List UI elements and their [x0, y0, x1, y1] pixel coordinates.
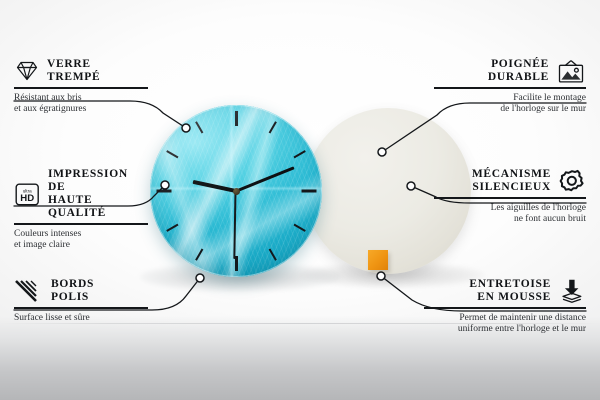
feature-title: MÉCANISME SILENCIEUX [472, 168, 551, 194]
feature-divider [434, 87, 586, 89]
feature-subtitle-line2: de l'horloge sur le mur [434, 104, 586, 116]
feature-mecanisme-silencieux[interactable]: MÉCANISME SILENCIEUX Les aiguilles de l'… [434, 168, 586, 226]
diamond-icon [14, 59, 40, 83]
feature-title: POIGNÉE DURABLE [488, 58, 549, 84]
diagonal-stripes-icon [14, 279, 44, 303]
feature-entretoise-en-mousse[interactable]: ENTRETOISE EN MOUSSE Permet de maintenir… [424, 278, 586, 336]
feature-subtitle-line1: Surface lisse et sûre [14, 313, 148, 325]
infographic-canvas: VERRE TREMPÉ Résistant aux bris et aux é… [0, 0, 600, 400]
feature-verre-trempe[interactable]: VERRE TREMPÉ Résistant aux bris et aux é… [14, 58, 148, 116]
clock-front-face [150, 105, 322, 277]
feature-impression-haute-qualite[interactable]: ultra HD IMPRESSION DE HAUTE QUALITÉ Cou… [14, 168, 148, 252]
feature-subtitle-line2: ne font aucun bruit [434, 214, 586, 226]
feature-subtitle-line1: Résistant aux bris [14, 93, 148, 105]
ultra-hd-icon: ultra HD [14, 182, 41, 207]
feature-title: BORDS POLIS [51, 278, 94, 304]
feature-header: MÉCANISME SILENCIEUX [434, 168, 586, 194]
feature-header: VERRE TREMPÉ [14, 58, 148, 84]
feature-subtitle-line1: Permet de maintenir une distance [424, 313, 586, 325]
feature-subtitle-line2: et image claire [14, 240, 148, 252]
feature-title: ENTRETOISE EN MOUSSE [469, 278, 551, 304]
feature-title: VERRE TREMPÉ [47, 58, 100, 84]
feature-poignee-durable[interactable]: POIGNÉE DURABLE Facilite le montage de l… [434, 58, 586, 116]
feature-subtitle-line2: et aux égratignures [14, 104, 148, 116]
feature-subtitle-line1: Les aiguilles de l'horloge [434, 203, 586, 215]
feature-title: IMPRESSION DE HAUTE QUALITÉ [48, 168, 148, 220]
clock-face-rim [150, 105, 322, 277]
foam-spacer-pad [368, 250, 388, 270]
feature-header: ultra HD IMPRESSION DE HAUTE QUALITÉ [14, 168, 148, 220]
feature-subtitle-line1: Facilite le montage [434, 93, 586, 105]
feature-divider [14, 307, 148, 309]
feature-divider [434, 197, 586, 199]
feature-divider [14, 87, 148, 89]
feature-subtitle-line1: Couleurs intenses [14, 229, 148, 241]
feature-bords-polis[interactable]: BORDS POLIS Surface lisse et sûre [14, 278, 148, 324]
gear-icon [558, 168, 586, 194]
feature-divider [424, 307, 586, 309]
feature-header: POIGNÉE DURABLE [434, 58, 586, 84]
picture-frame-hanger-icon [556, 59, 586, 84]
ultra-hd-icon-bottom-text: HD [20, 193, 34, 204]
feature-header: ENTRETOISE EN MOUSSE [424, 278, 586, 304]
arrow-down-onto-layers-icon [558, 278, 586, 304]
feature-header: BORDS POLIS [14, 278, 148, 304]
feature-divider [14, 223, 148, 225]
feature-subtitle-line2: uniforme entre l'horloge et le mur [424, 324, 586, 336]
